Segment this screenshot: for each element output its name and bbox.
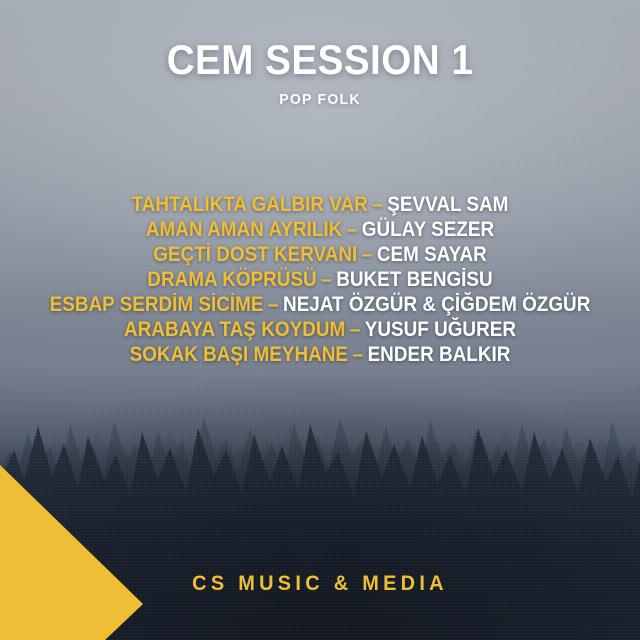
tracklist: TAHTALIKTA GALBIR VAR – ŞEVVAL SAM AMAN … (0, 192, 640, 367)
track-artist: ENDER BALKIR (368, 342, 511, 367)
track-artist: YUSUF UĞURER (365, 317, 516, 342)
track-separator: – (342, 217, 362, 242)
track-artist: ŞEVVAL SAM (387, 192, 508, 217)
track-separator: – (348, 342, 368, 367)
track-row: AMAN AMAN AYRILIK – GÜLAY SEZER (32, 217, 608, 242)
track-row: DRAMA KÖPRÜSÜ – BUKET BENGİSU (32, 267, 608, 292)
track-artist: NEJAT ÖZGÜR & ÇİĞDEM ÖZGÜR (283, 292, 590, 317)
track-artist: GÜLAY SEZER (362, 217, 494, 242)
track-title: DRAMA KÖPRÜSÜ (147, 267, 316, 292)
track-separator: – (345, 317, 365, 342)
track-title: ESBAP SERDİM SİCİME (50, 292, 264, 317)
track-artist: CEM SAYAR (377, 242, 487, 267)
track-row: GEÇTİ DOST KERVANI – CEM SAYAR (32, 242, 608, 267)
yellow-arrow-graphic (0, 440, 160, 640)
track-title: GEÇTİ DOST KERVANI (153, 242, 357, 267)
label-brand-text: CS MUSIC & MEDIA (16, 572, 624, 596)
track-artist: BUKET BENGİSU (336, 267, 492, 292)
track-title: TAHTALIKTA GALBIR VAR (132, 192, 368, 217)
track-separator: – (264, 292, 284, 317)
track-row: ARABAYA TAŞ KOYDUM – YUSUF UĞURER (32, 317, 608, 342)
track-row: SOKAK BAŞI MEYHANE – ENDER BALKIR (32, 342, 608, 367)
track-separator: – (357, 242, 377, 267)
album-title: CEM SESSION 1 (26, 38, 615, 82)
track-row: ESBAP SERDİM SİCİME – NEJAT ÖZGÜR & ÇİĞD… (32, 292, 608, 317)
track-title: AMAN AMAN AYRILIK (146, 217, 342, 242)
title-block: CEM SESSION 1 POP FOLK (0, 38, 640, 108)
track-separator: – (317, 267, 337, 292)
track-title: SOKAK BAŞI MEYHANE (130, 342, 348, 367)
album-cover-art: CEM SESSION 1 POP FOLK TAHTALIKTA GALBIR… (0, 0, 640, 640)
album-genre-subtitle: POP FOLK (19, 91, 621, 108)
track-separator: – (368, 192, 388, 217)
track-row: TAHTALIKTA GALBIR VAR – ŞEVVAL SAM (32, 192, 608, 217)
track-title: ARABAYA TAŞ KOYDUM (124, 317, 345, 342)
